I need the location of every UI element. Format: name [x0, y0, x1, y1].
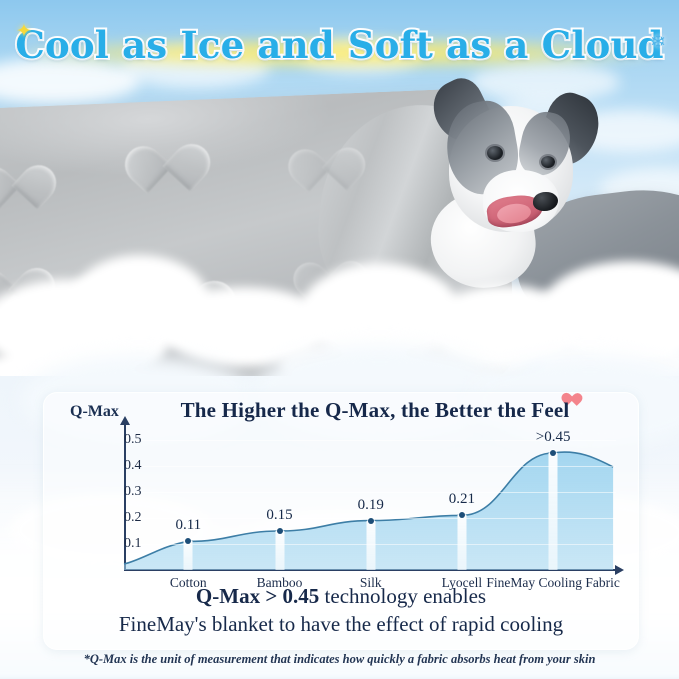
conclusion-text: Q-Max > 0.45 technology enables FineMay'… — [44, 583, 638, 639]
data-point-label: 0.11 — [175, 517, 201, 534]
dog-eye-right — [541, 156, 555, 168]
conclusion-rest: technology enables — [319, 584, 486, 608]
value-guide-bar — [549, 453, 558, 570]
dog-eye-left — [487, 146, 503, 160]
value-guide-bar — [457, 515, 466, 570]
value-guide-bar — [184, 541, 193, 570]
grid-line — [125, 492, 616, 493]
conclusion-strong: Q-Max > 0.45 — [196, 584, 319, 608]
value-guide-bar — [366, 521, 375, 570]
sparkle-icon: ✦ — [16, 22, 32, 41]
conclusion-line-2: FineMay's blanket to have the effect of … — [44, 611, 638, 639]
page-title: Cool as Ice and Soft as a Cloud — [15, 23, 663, 67]
data-point — [368, 518, 374, 524]
data-point-label: 0.21 — [449, 491, 475, 508]
chart-area-series — [66, 429, 622, 571]
chart-panel: Q-Max The Higher the Q-Max, the Better t… — [43, 392, 639, 650]
data-point — [185, 538, 191, 544]
data-point — [277, 528, 283, 534]
snowflake-icon: ❄ — [650, 33, 666, 52]
data-point-label: 0.15 — [266, 507, 292, 524]
value-guide-bar — [275, 531, 284, 570]
data-point-label: >0.45 — [536, 429, 571, 446]
chart-title: The Higher the Q-Max, the Better the Fee… — [140, 398, 610, 423]
y-axis-title: Q-Max — [70, 403, 119, 421]
heart-quilt-icon — [133, 124, 202, 189]
infographic-root: Cool as Ice and Soft as a Cloud ✦ ❄ — [0, 0, 679, 679]
header-banner: Cool as Ice and Soft as a Cloud — [0, 14, 679, 76]
heart-quilt-icon — [0, 146, 48, 207]
grid-line — [125, 466, 616, 467]
data-point — [459, 512, 465, 518]
qmax-area-chart: 0.10.20.30.40.50.11Cotton0.15Bamboo0.19S… — [66, 429, 622, 571]
data-point — [550, 450, 556, 456]
footnote: *Q-Max is the unit of measurement that i… — [0, 652, 679, 667]
heart-quilt-icon — [295, 129, 357, 187]
data-point-label: 0.19 — [358, 497, 384, 514]
